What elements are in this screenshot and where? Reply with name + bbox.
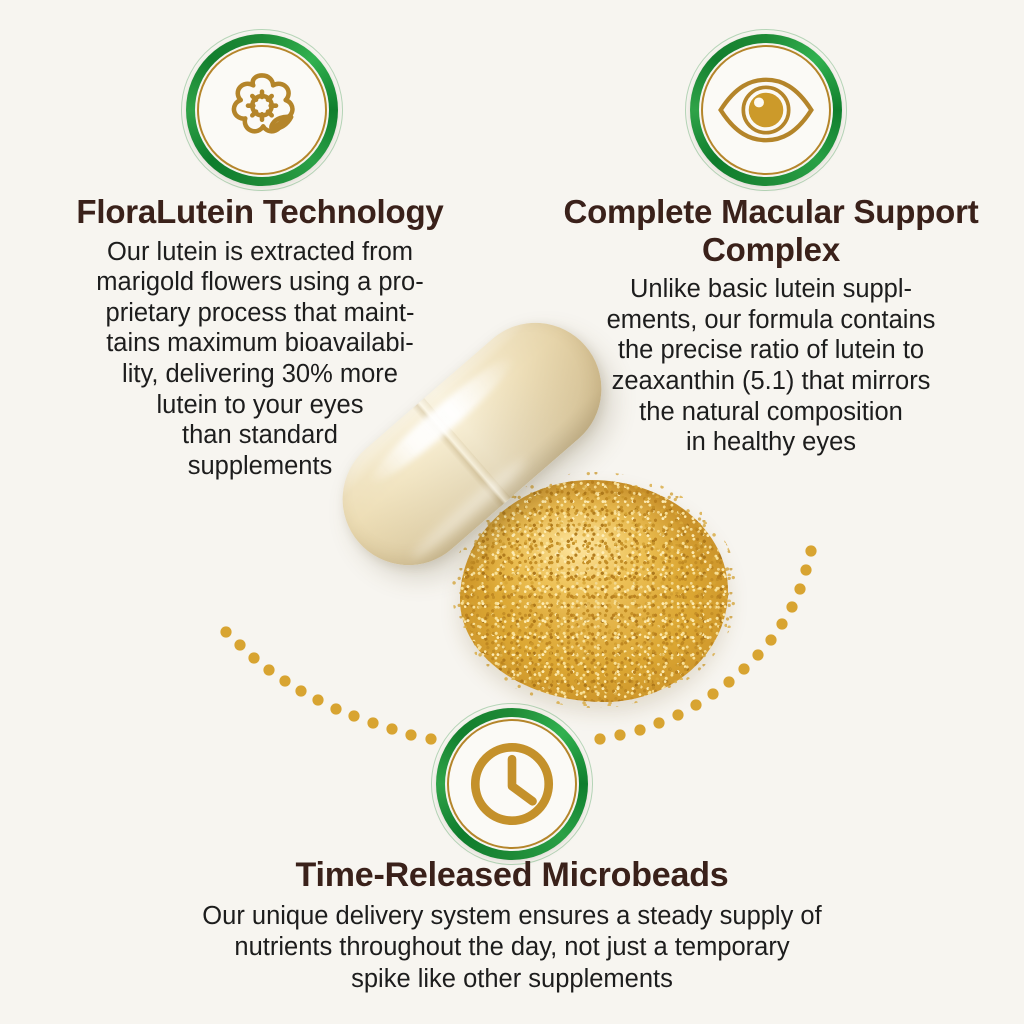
feature-right: Complete Macular Support Complex Unlike … xyxy=(540,193,1002,458)
heading-line: Time-Released Microbeads xyxy=(296,856,729,894)
body-line: supplements xyxy=(30,451,490,482)
eye-badge xyxy=(690,34,842,186)
body-line: lity, delivering 30% more xyxy=(30,359,490,390)
feature-bottom: Time-Released Microbeads Our unique deli… xyxy=(62,856,962,996)
feature-left: FloraLutein Technology Our lutein is ext… xyxy=(30,193,490,481)
clock-icon xyxy=(458,730,566,838)
body-line: zeaxanthin (5.1) that mirrors xyxy=(540,366,1002,397)
eye-icon xyxy=(712,56,820,164)
body-line: nutrients throughout the day, not just a… xyxy=(62,932,962,964)
body-line: the natural composition xyxy=(540,397,1002,428)
body-line: ements, our formula contains xyxy=(540,305,1002,336)
feature-right-body: Unlike basic lutein suppl- ements, our f… xyxy=(540,274,1002,458)
infographic-poster: FloraLutein Technology Our lutein is ext… xyxy=(0,0,1024,1024)
body-line: in healthy eyes xyxy=(540,427,1002,458)
feature-left-heading: FloraLutein Technology xyxy=(30,193,490,231)
heading-line: FloraLutein xyxy=(76,193,253,230)
body-line: spike like other supplements xyxy=(62,964,962,996)
body-line: Our lutein is extracted from xyxy=(30,237,490,268)
heading-line: Complete Macular xyxy=(563,193,844,230)
marigold-flower-icon xyxy=(208,56,316,164)
feature-bottom-body: Our unique delivery system ensures a ste… xyxy=(62,901,962,996)
golden-lutein-powder xyxy=(460,480,728,702)
marigold-flower-badge xyxy=(186,34,338,186)
feature-bottom-heading: Time-Released Microbeads xyxy=(62,856,962,895)
body-line: lutein to your eyes xyxy=(30,390,490,421)
body-line: Our unique delivery system ensures a ste… xyxy=(62,901,962,933)
body-line: prietary process that maint- xyxy=(30,298,490,329)
body-line: Unlike basic lutein suppl- xyxy=(540,274,1002,305)
body-line: the precise ratio of lutein to xyxy=(540,335,1002,366)
feature-left-body: Our lutein is extracted from marigold fl… xyxy=(30,237,490,482)
body-line: than standard xyxy=(30,420,490,451)
feature-right-heading: Complete Macular Support Complex xyxy=(540,193,1002,268)
clock-badge xyxy=(436,708,588,860)
body-line: tains maximum bioavailabi- xyxy=(30,328,490,359)
body-line: marigold flowers using a pro- xyxy=(30,267,490,298)
heading-line: Technology xyxy=(263,193,444,230)
